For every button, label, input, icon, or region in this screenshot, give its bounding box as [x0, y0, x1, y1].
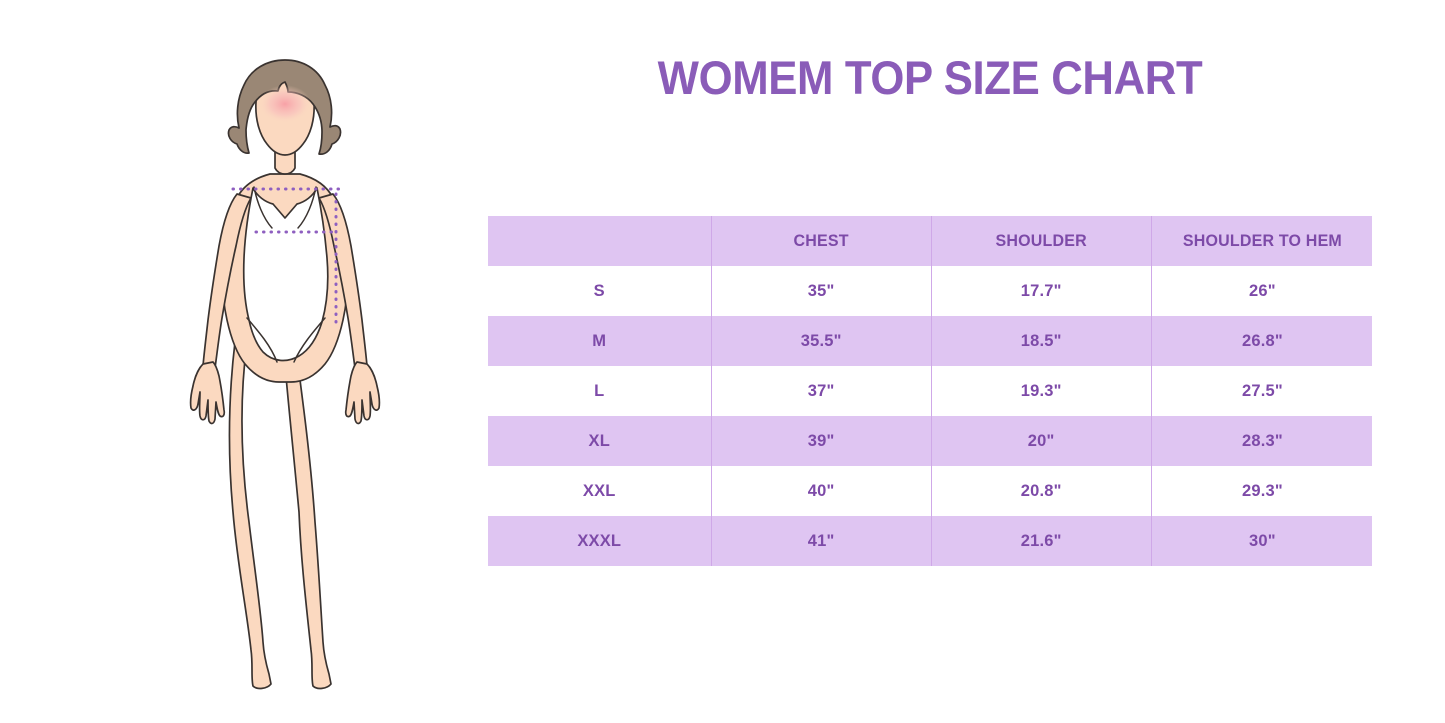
page-title: WOMEM TOP SIZE CHART — [519, 50, 1341, 105]
cell-size: L — [491, 366, 707, 416]
column-header-chest: CHEST — [714, 216, 928, 266]
cell-chest: 35.5" — [714, 316, 928, 366]
cell-chest: 40" — [714, 466, 928, 516]
column-header-shoulder: SHOULDER — [935, 216, 1149, 266]
cell-shoulder: 20.8" — [935, 466, 1149, 516]
table-row: XXL 40" 20.8" 29.3" — [488, 466, 1372, 516]
cell-chest: 41" — [714, 516, 928, 566]
cell-shoulder: 21.6" — [935, 516, 1149, 566]
leg-left — [229, 342, 271, 688]
cell-size: XXXL — [491, 516, 707, 566]
table-row: M 35.5" 18.5" 26.8" — [488, 316, 1372, 366]
cell-size: M — [491, 316, 707, 366]
cell-chest: 35" — [714, 266, 928, 316]
cell-shoulder-to-hem: 27.5" — [1155, 366, 1369, 416]
cell-shoulder: 20" — [935, 416, 1149, 466]
body-figure-illustration — [175, 42, 425, 692]
cell-shoulder-to-hem: 26" — [1155, 266, 1369, 316]
blush — [259, 85, 311, 123]
cell-shoulder-to-hem: 29.3" — [1155, 466, 1369, 516]
cell-size: S — [491, 266, 707, 316]
hand-left — [191, 362, 225, 423]
cell-shoulder: 19.3" — [935, 366, 1149, 416]
cell-chest: 37" — [714, 366, 928, 416]
table-row: XL 39" 20" 28.3" — [488, 416, 1372, 466]
cell-chest: 39" — [714, 416, 928, 466]
cell-shoulder: 17.7" — [935, 266, 1149, 316]
figure-panel: SHOULDER CHEST SHOULDER TO HEM — [0, 0, 470, 723]
table-header-row: CHEST SHOULDER SHOULDER TO HEM — [488, 216, 1372, 266]
leg-right — [283, 342, 331, 688]
cell-shoulder-to-hem: 26.8" — [1155, 316, 1369, 366]
cell-size: XL — [491, 416, 707, 466]
size-chart-table: CHEST SHOULDER SHOULDER TO HEM S 35" 17.… — [488, 216, 1372, 566]
table-row: XXXL 41" 21.6" 30" — [488, 516, 1372, 566]
table-row: S 35" 17.7" 26" — [488, 266, 1372, 316]
cell-shoulder-to-hem: 28.3" — [1155, 416, 1369, 466]
column-header-shoulder-to-hem: SHOULDER TO HEM — [1155, 216, 1369, 266]
column-header-size — [491, 216, 707, 266]
table-row: L 37" 19.3" 27.5" — [488, 366, 1372, 416]
cell-size: XXL — [491, 466, 707, 516]
cell-shoulder: 18.5" — [935, 316, 1149, 366]
hand-right — [346, 362, 380, 423]
cell-shoulder-to-hem: 30" — [1155, 516, 1369, 566]
